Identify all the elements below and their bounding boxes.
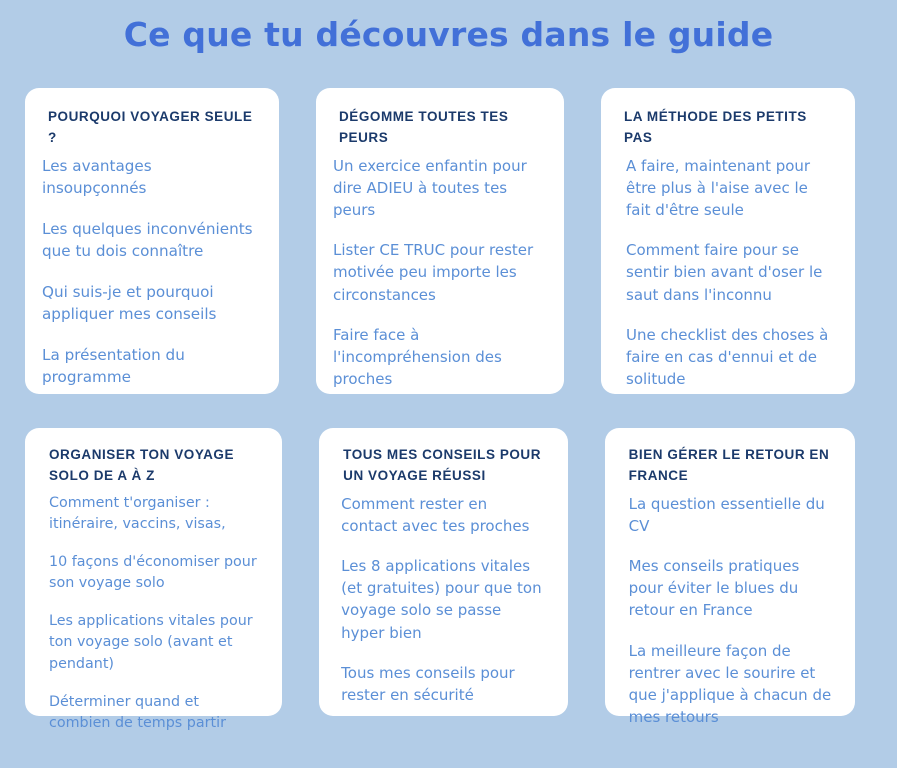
list-item: Faire face à l'incompréhension des proch…: [333, 324, 542, 391]
list-item: La question essentielle du CV: [629, 493, 835, 537]
card-item-list: Comment rester en contact avec tes proch…: [329, 493, 547, 707]
card-item-list: A faire, maintenant pour être plus à l'a…: [618, 155, 833, 391]
card-bien-gerer-le-retour-en-france: BIEN GÉRER LE RETOUR EN FRANCE La questi…: [605, 428, 855, 716]
list-item: Comment t'organiser : itinéraire, vaccin…: [49, 493, 262, 535]
list-item: Mes conseils pratiques pour éviter le bl…: [629, 555, 835, 622]
guide-overview-page: Ce que tu découvres dans le guide POURQU…: [0, 0, 897, 768]
list-item: Les quelques inconvénients que tu dois c…: [42, 218, 257, 263]
list-item: Lister CE TRUC pour rester motivée peu i…: [333, 239, 542, 306]
card-tous-mes-conseils-voyage-reussi: TOUS MES CONSEILS POUR UN VOYAGE RÉUSSI …: [319, 428, 567, 716]
card-item-list: La question essentielle du CV Mes consei…: [615, 493, 835, 729]
list-item: A faire, maintenant pour être plus à l'a…: [626, 155, 833, 222]
card-title: TOUS MES CONSEILS POUR UN VOYAGE RÉUSSI: [329, 444, 547, 487]
list-item: Comment faire pour se sentir bien avant …: [626, 239, 833, 306]
list-item: Déterminer quand et combien de temps par…: [49, 692, 262, 734]
cards-row-bottom: ORGANISER TON VOYAGE SOLO DE A À Z Comme…: [25, 428, 855, 716]
list-item: La meilleure façon de rentrer avec le so…: [629, 640, 835, 729]
list-item: Les 8 applications vitales (et gratuites…: [341, 555, 547, 644]
card-item-list: Un exercice enfantin pour dire ADIEU à t…: [333, 155, 542, 391]
card-item-list: Les avantages insoupçonnés Les quelques …: [42, 155, 257, 389]
cards-grid: POURQUOI VOYAGER SEULE ? Les avantages i…: [25, 88, 855, 716]
card-title: ORGANISER TON VOYAGE SOLO DE A À Z: [35, 444, 262, 487]
card-organiser-ton-voyage-solo: ORGANISER TON VOYAGE SOLO DE A À Z Comme…: [25, 428, 282, 716]
list-item: Qui suis-je et pourquoi appliquer mes co…: [42, 281, 257, 326]
card-pourquoi-voyager-seule: POURQUOI VOYAGER SEULE ? Les avantages i…: [25, 88, 279, 394]
list-item: Tous mes conseils pour rester en sécurit…: [341, 662, 547, 706]
card-title: BIEN GÉRER LE RETOUR EN FRANCE: [615, 444, 835, 487]
list-item: Comment rester en contact avec tes proch…: [341, 493, 547, 537]
card-title: LA MÉTHODE DES PETITS PAS: [618, 106, 833, 149]
list-item: La présentation du programme: [42, 344, 257, 389]
card-item-list: Comment t'organiser : itinéraire, vaccin…: [35, 493, 262, 734]
page-title: Ce que tu découvres dans le guide: [0, 0, 897, 51]
list-item: Les applications vitales pour ton voyage…: [49, 611, 262, 674]
card-title: DÉGOMME TOUTES TES PEURS: [333, 106, 542, 149]
cards-row-top: POURQUOI VOYAGER SEULE ? Les avantages i…: [25, 88, 855, 394]
card-degomme-toutes-tes-peurs: DÉGOMME TOUTES TES PEURS Un exercice enf…: [316, 88, 564, 394]
list-item: Les avantages insoupçonnés: [42, 155, 257, 200]
list-item: 10 façons d'économiser pour son voyage s…: [49, 552, 262, 594]
card-title: POURQUOI VOYAGER SEULE ?: [42, 106, 257, 149]
list-item: Une checklist des choses à faire en cas …: [626, 324, 833, 391]
card-la-methode-des-petits-pas: LA MÉTHODE DES PETITS PAS A faire, maint…: [601, 88, 855, 394]
list-item: Un exercice enfantin pour dire ADIEU à t…: [333, 155, 542, 222]
